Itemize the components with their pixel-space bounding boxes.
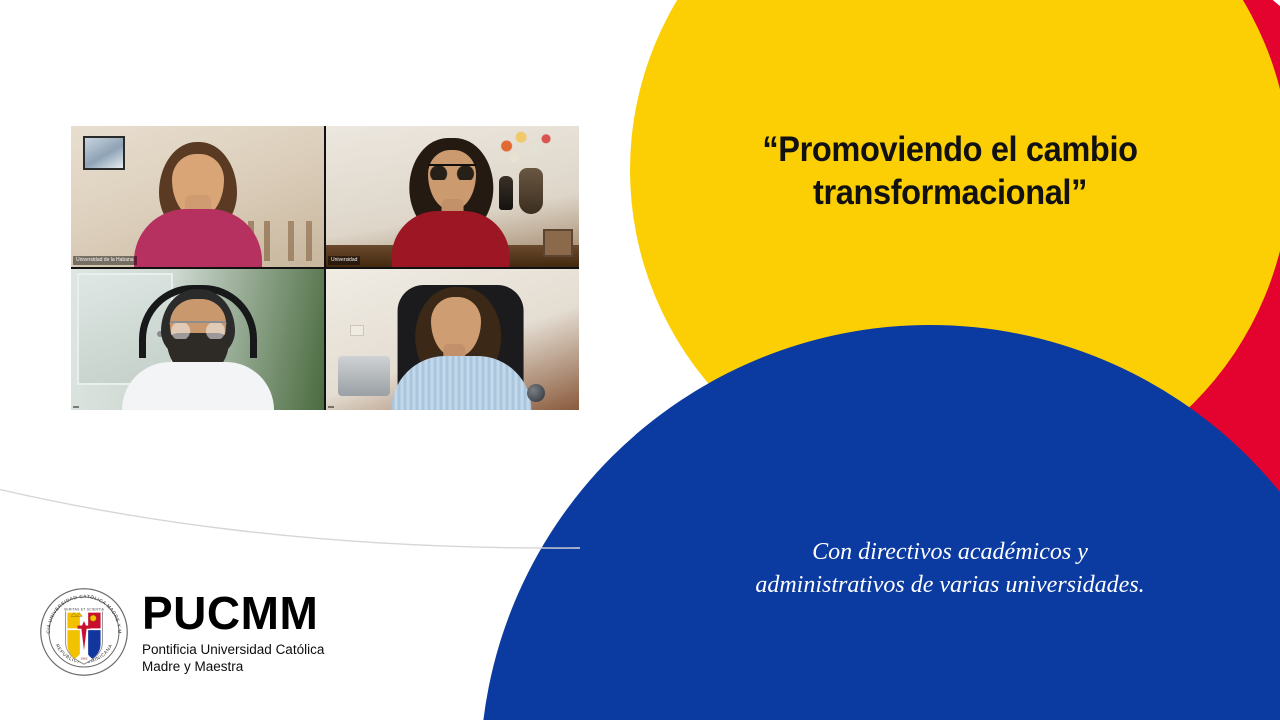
participant-name-label: Universidad xyxy=(328,256,360,265)
participant-badge xyxy=(527,384,545,402)
wall-picture-frame xyxy=(83,136,125,170)
participant-name-label xyxy=(328,406,334,408)
university-seal-icon: PONTIFICIA UNIVERSIDAD CATÓLICA MADRE Y … xyxy=(38,586,130,678)
video-call-grid: Universidad de la Habana Universidad xyxy=(71,126,579,410)
office-printer xyxy=(338,356,390,396)
video-tile-top-right[interactable]: Universidad xyxy=(326,126,579,267)
logo-subtitle-line-2: Madre y Maestra xyxy=(142,658,324,675)
participant-glasses xyxy=(428,164,476,180)
svg-text:1962: 1962 xyxy=(81,657,88,661)
table-lamp xyxy=(499,176,513,210)
video-tile-bottom-left[interactable] xyxy=(71,269,324,410)
participant-torso xyxy=(122,362,274,410)
slide-headline: “Promoviendo el cambio transformacional” xyxy=(671,128,1229,214)
slide-caption: Con directivos académicos y administrati… xyxy=(650,536,1250,602)
presentation-slide: Universidad de la Habana Universidad xyxy=(0,0,1280,720)
logo-subtitle-line-1: Pontificia Universidad Católica xyxy=(142,641,324,658)
participant-torso xyxy=(134,209,262,267)
decorative-vase xyxy=(519,168,543,214)
logo-acronym: PUCMM xyxy=(142,590,324,636)
video-tile-top-left[interactable]: Universidad de la Habana xyxy=(71,126,324,267)
participant-torso xyxy=(391,211,509,267)
wall-outlet xyxy=(350,325,364,336)
participant-name-label xyxy=(73,406,79,408)
video-tile-bottom-right[interactable] xyxy=(326,269,579,410)
participant-glasses xyxy=(169,321,227,339)
logo-text-block: PUCMM Pontificia Universidad Católica Ma… xyxy=(142,590,324,675)
photo-frame xyxy=(543,229,573,257)
pucmm-logo: PONTIFICIA UNIVERSIDAD CATÓLICA MADRE Y … xyxy=(38,586,324,678)
participant-name-label: Universidad de la Habana xyxy=(73,256,137,265)
flower-bouquet xyxy=(495,130,553,170)
